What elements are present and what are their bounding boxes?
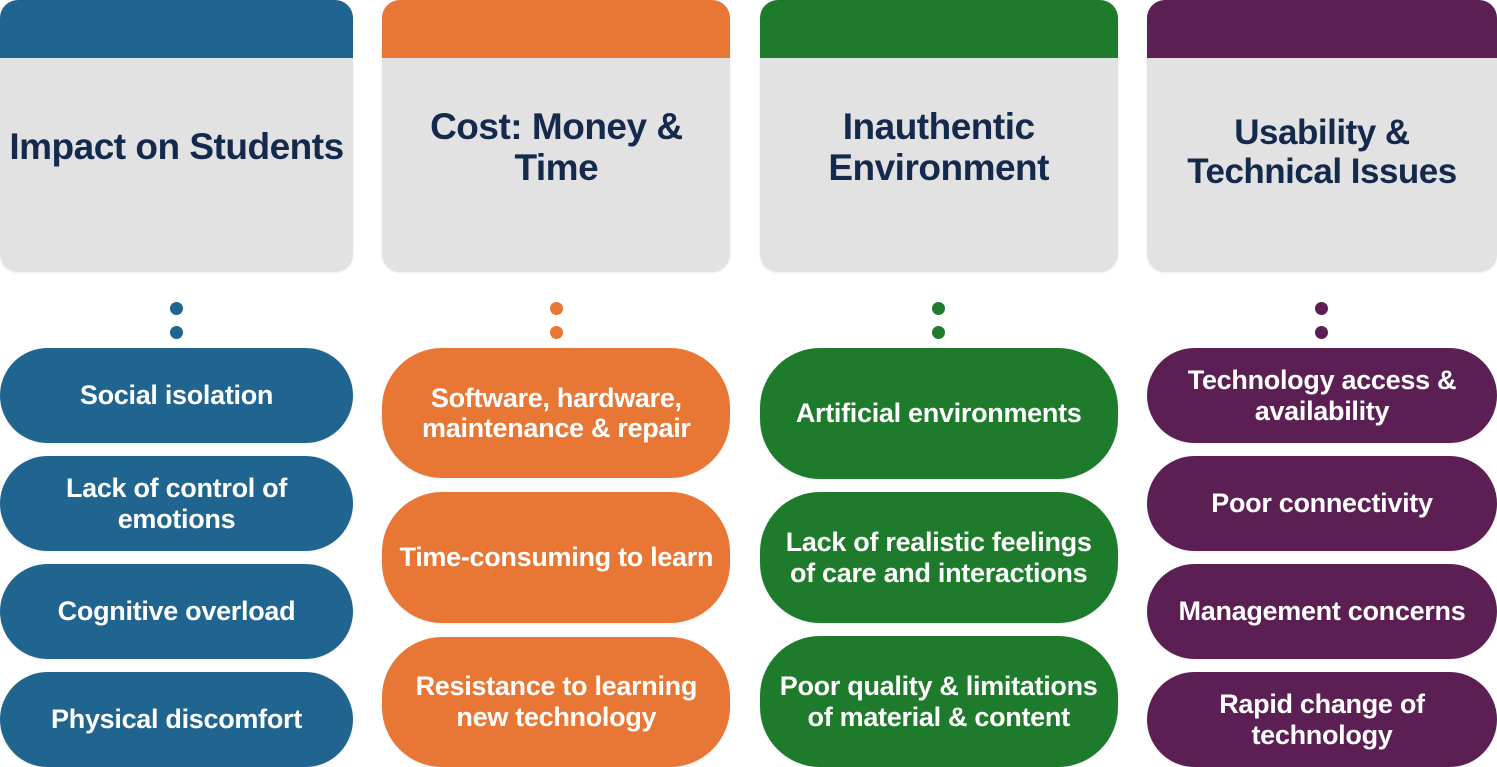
item-pill[interactable]: Time-consuming to learn: [382, 492, 730, 622]
item-pill[interactable]: Social isolation: [0, 348, 353, 443]
item-pill[interactable]: Cognitive overload: [0, 564, 353, 659]
item-pill[interactable]: Physical discomfort: [0, 672, 353, 767]
header-accent-strip: [0, 0, 353, 58]
category-title: Impact on Students: [8, 58, 345, 272]
connector-dots: [1147, 272, 1497, 348]
item-pill[interactable]: Rapid change of technology: [1147, 672, 1497, 767]
item-pill-list: Technology access & availability Poor co…: [1147, 348, 1497, 767]
category-header-card: Cost: Money & Time: [382, 0, 730, 272]
category-column-cost-money-time: Cost: Money & Time Software, hardware, m…: [382, 0, 730, 767]
item-pill[interactable]: Software, hardware, maintenance & repair: [382, 348, 730, 478]
connector-dots: [760, 272, 1118, 348]
connector-dots: [0, 272, 353, 348]
item-pill[interactable]: Resistance to learning new technology: [382, 637, 730, 767]
category-column-inauthentic-environment: Inauthentic Environment Artificial envir…: [760, 0, 1118, 767]
item-pill-list: Software, hardware, maintenance & repair…: [382, 348, 730, 767]
category-title: Usability & Technical Issues: [1155, 58, 1489, 272]
item-pill-list: Artificial environments Lack of realisti…: [760, 348, 1118, 767]
connector-dots: [382, 272, 730, 348]
item-pill[interactable]: Technology access & availability: [1147, 348, 1497, 443]
connector-dot: [170, 326, 183, 339]
category-column-usability-technical-issues: Usability & Technical Issues Technology …: [1147, 0, 1497, 767]
category-header-card: Usability & Technical Issues: [1147, 0, 1497, 272]
connector-dot: [550, 326, 563, 339]
category-header-card: Impact on Students: [0, 0, 353, 272]
connector-dot: [1315, 302, 1328, 315]
category-title: Cost: Money & Time: [390, 58, 722, 272]
category-matrix-diagram: Impact on Students Social isolation Lack…: [0, 0, 1497, 767]
connector-dot: [932, 302, 945, 315]
header-accent-strip: [760, 0, 1118, 58]
item-pill-list: Social isolation Lack of control of emot…: [0, 348, 353, 767]
connector-dot: [170, 302, 183, 315]
item-pill[interactable]: Lack of realistic feelings of care and i…: [760, 492, 1118, 623]
connector-dot: [932, 326, 945, 339]
item-pill[interactable]: Poor quality & limitations of material &…: [760, 636, 1118, 767]
category-header-card: Inauthentic Environment: [760, 0, 1118, 272]
item-pill[interactable]: Lack of control of emotions: [0, 456, 353, 551]
connector-dot: [1315, 326, 1328, 339]
item-pill[interactable]: Management concerns: [1147, 564, 1497, 659]
item-pill[interactable]: Artificial environments: [760, 348, 1118, 479]
connector-dot: [550, 302, 563, 315]
category-column-impact-on-students: Impact on Students Social isolation Lack…: [0, 0, 353, 767]
category-title: Inauthentic Environment: [768, 58, 1110, 272]
header-accent-strip: [382, 0, 730, 58]
item-pill[interactable]: Poor connectivity: [1147, 456, 1497, 551]
header-accent-strip: [1147, 0, 1497, 58]
